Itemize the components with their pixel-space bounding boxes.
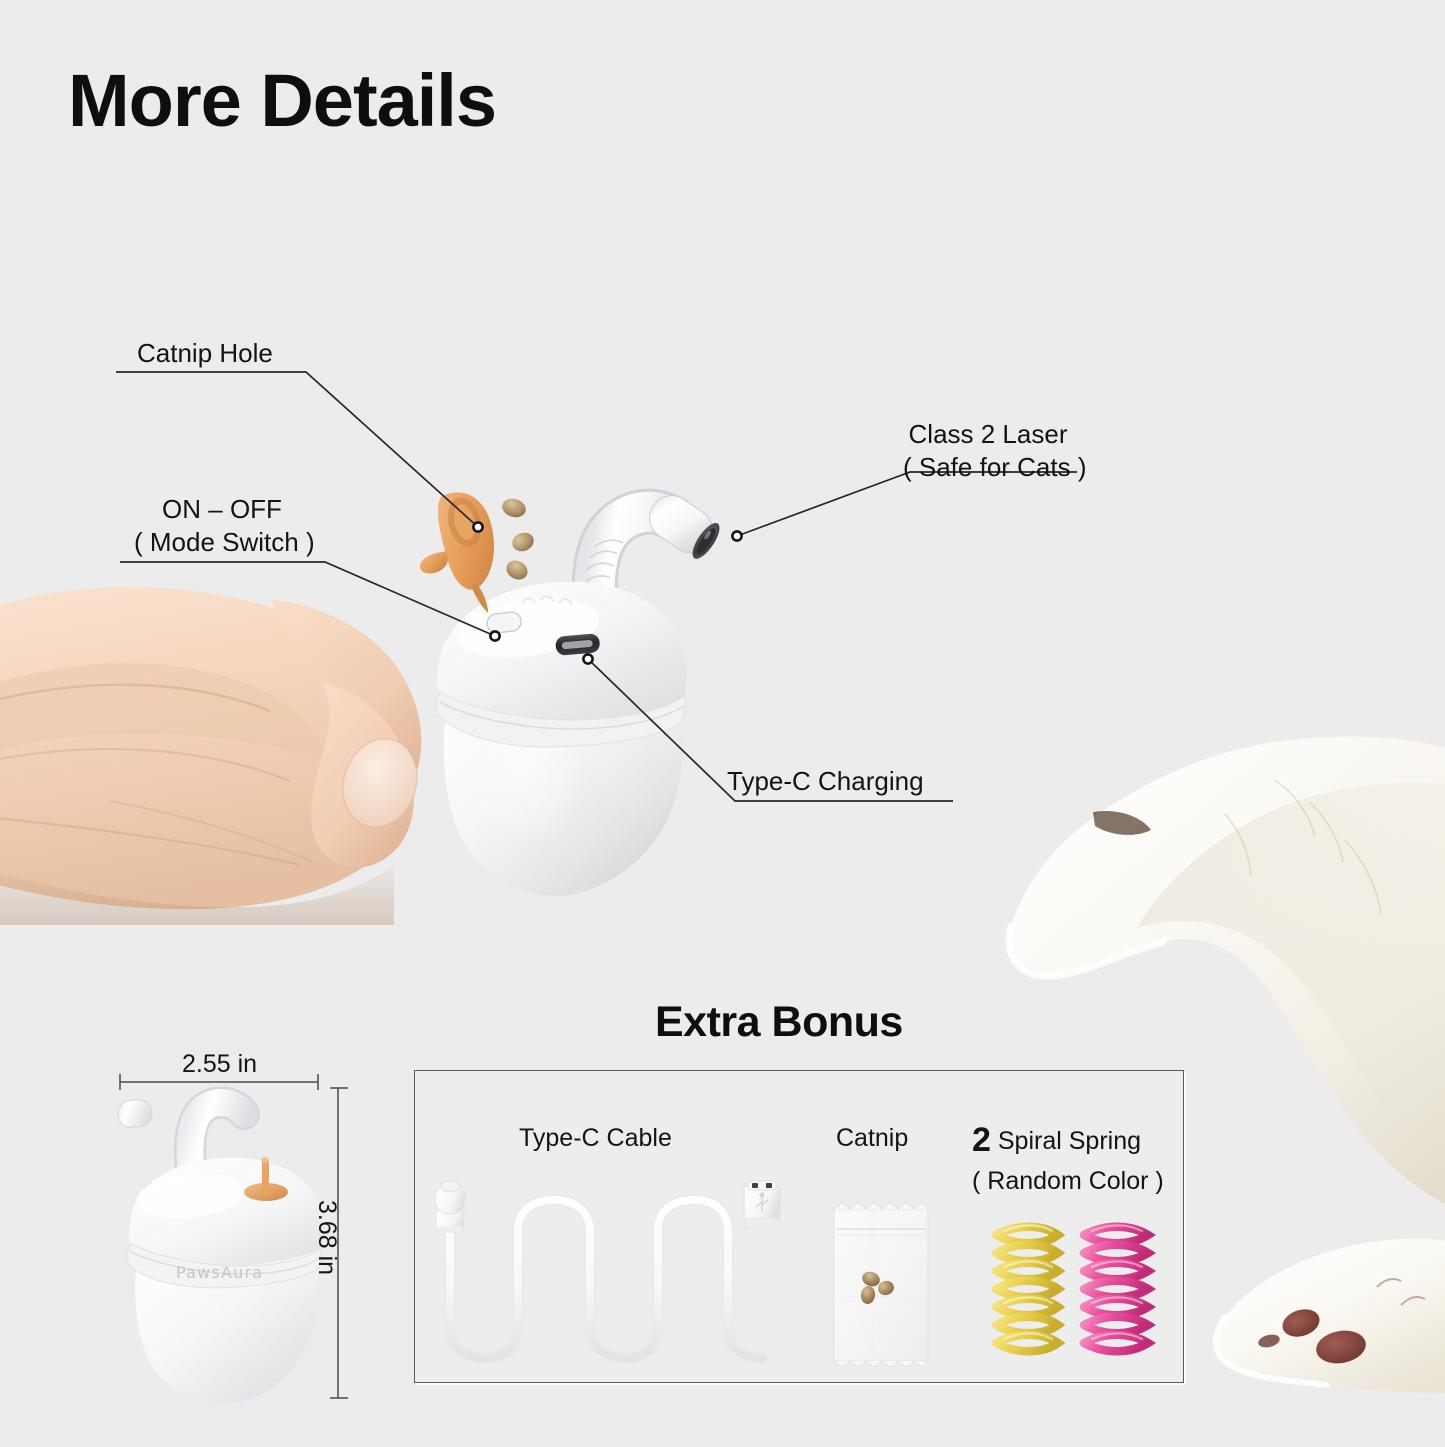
brand-name: PawsAura bbox=[176, 1263, 263, 1282]
callout-typec-charging-line1: Type-C Charging bbox=[727, 766, 924, 796]
callout-class2-laser: Class 2 Laser ( Safe for Cats ) bbox=[903, 418, 1073, 485]
spiral-spring-label: Spiral Spring bbox=[998, 1127, 1141, 1155]
bonus-section-title: Extra Bonus bbox=[655, 998, 903, 1047]
dimension-height-label: 3.68 in bbox=[312, 1200, 341, 1275]
typec-cable-illustration bbox=[424, 1180, 794, 1375]
spiral-spring-sublabel: ( Random Color ) bbox=[972, 1165, 1164, 1198]
callout-class2-laser-line2: ( Safe for Cats ) bbox=[903, 451, 1073, 484]
product-detail-infographic: More Details bbox=[0, 0, 1445, 1445]
spiral-spring-count: 2 bbox=[972, 1121, 991, 1159]
callout-mode-switch-line1: ON – OFF bbox=[162, 494, 282, 524]
catnip-bag-illustration bbox=[826, 1193, 938, 1375]
cat-paw-lower-photo bbox=[1195, 1235, 1445, 1447]
bonus-label-catnip: Catnip bbox=[836, 1122, 908, 1155]
callout-catnip-hole: Catnip Hole bbox=[137, 337, 273, 370]
dimension-width-label: 2.55 in bbox=[182, 1050, 257, 1079]
callout-typec-charging: Type-C Charging bbox=[727, 765, 924, 798]
callout-class2-laser-line1: Class 2 Laser bbox=[909, 419, 1068, 449]
callout-mode-switch-line2: ( Mode Switch ) bbox=[134, 526, 310, 559]
bonus-label-spiral-spring: 2 Spiral Spring ( Random Color ) bbox=[972, 1118, 1164, 1198]
spiral-springs-illustration bbox=[978, 1207, 1168, 1365]
callout-mode-switch: ON – OFF ( Mode Switch ) bbox=[134, 493, 310, 560]
bonus-label-typec-cable: Type-C Cable bbox=[519, 1122, 672, 1155]
callout-catnip-hole-line1: Catnip Hole bbox=[137, 338, 273, 368]
